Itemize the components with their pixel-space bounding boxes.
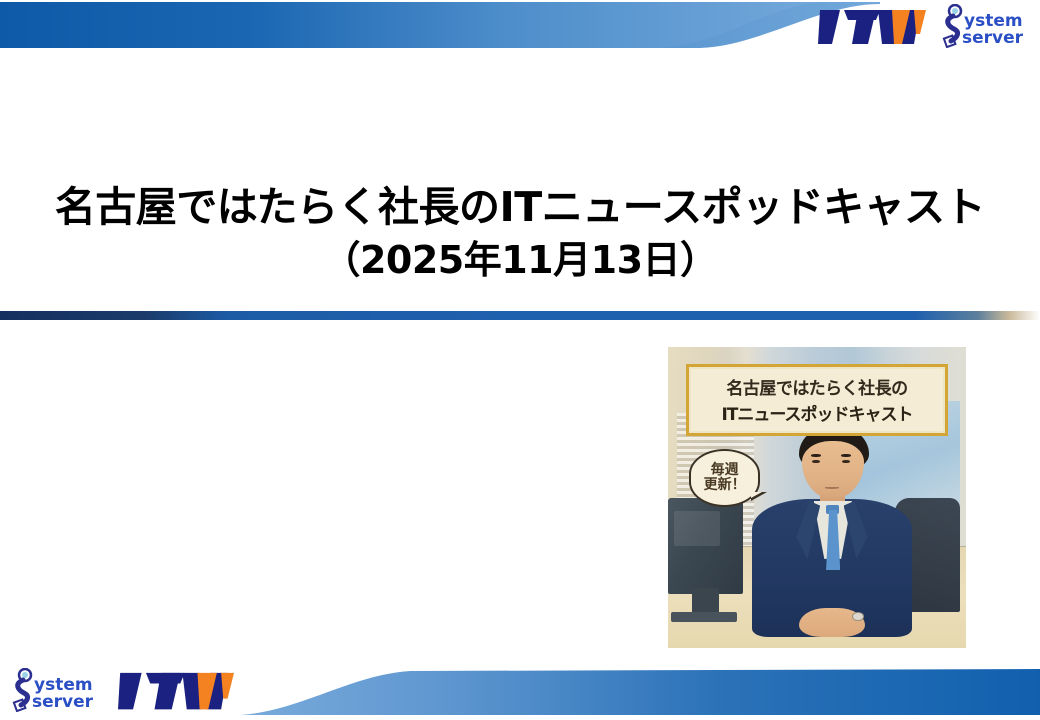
title-divider-bar [0,311,1040,320]
footer-logo-group: ystem server [8,668,234,712]
cover-art-monitor [668,498,743,594]
cover-art-title-plate: 名古屋ではたらく社長の ITニュースポッドキャスト [686,364,948,436]
system-server-logo-icon: ystem server [8,668,100,712]
header-band [0,0,880,50]
cover-art-eyebrow-left [811,454,821,457]
cover-art-bubble-line-2: 更新！ [704,478,746,493]
header-logo-group: ystem server [818,4,1030,48]
slide-footer: ystem server [0,660,1040,720]
svg-text:server: server [962,28,1024,48]
cover-art-monitor-base [671,612,737,622]
cover-art-title-line-1: 名古屋ではたらく社長の [726,374,907,399]
slide-title-line-2: （2025年11月13日） [0,235,1040,286]
footer-band [240,669,1040,715]
podcast-cover-art-image: 名古屋ではたらく社長の ITニュースポッドキャスト 毎週 更新！ [668,347,966,648]
cover-art-bubble-line-1: 毎週 [711,463,739,478]
slide-title-block: 名古屋ではたらく社長のITニュースポッドキャスト （2025年11月13日） [0,180,1040,287]
cover-art-face [802,441,864,499]
slide-title-line-1: 名古屋ではたらく社長のITニュースポッドキャスト [0,180,1040,235]
itw-logo-icon [818,6,926,46]
cover-art-monitor-panel [674,511,720,546]
itw-logo-icon [118,668,234,712]
cover-art-bubble-tail-inner [751,492,762,498]
cover-art-speech-bubble: 毎週 更新！ [689,449,761,506]
system-server-logo-icon: ystem server [938,4,1030,48]
cover-art-eyebrow-right [841,454,851,457]
cover-art-wristwatch [852,612,864,621]
svg-text:server: server [32,692,94,712]
cover-art-mouth [825,487,838,489]
cover-art-title-line-2: ITニュースポッドキャスト [721,400,912,425]
cover-art-person [748,425,915,648]
slide-header: ystem server [0,0,1040,52]
